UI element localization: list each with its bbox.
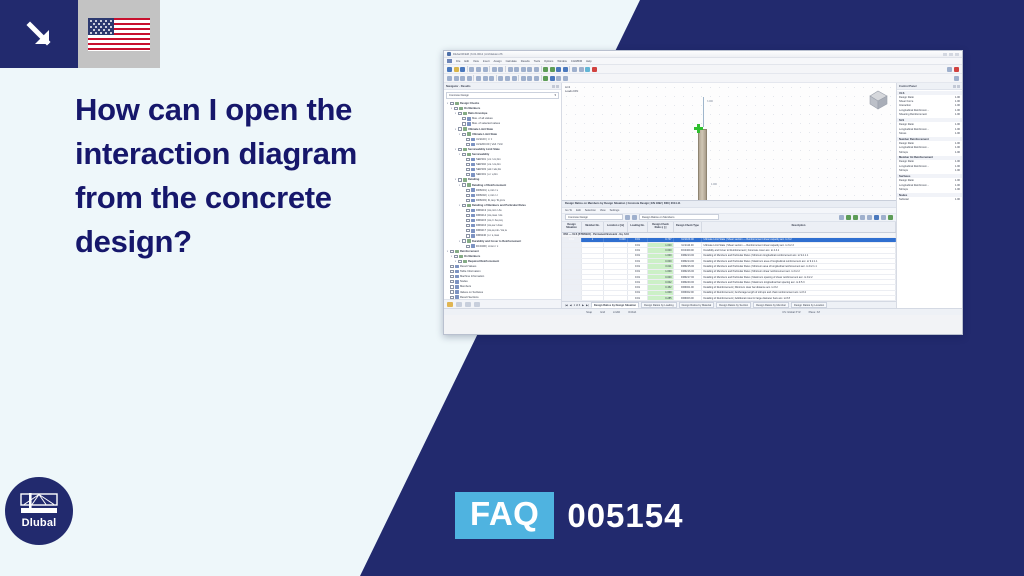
column-member[interactable] — [698, 129, 707, 200]
views-navigator-icon[interactable] — [465, 302, 471, 307]
toolbar-separator — [541, 75, 542, 81]
tree-checkbox[interactable] — [462, 183, 465, 186]
chevron-down-icon[interactable]: ▾ — [446, 102, 449, 105]
status-grid[interactable]: Grid — [600, 311, 605, 314]
tree-checkbox[interactable] — [458, 148, 461, 151]
cell-location[interactable] — [604, 285, 628, 289]
tab-ratios-by-material[interactable]: Design Ratios by Material — [679, 302, 715, 308]
cell-check-type[interactable]: DR6002.00 — [674, 291, 702, 295]
control-panel-row[interactable]: Stirrups1.00 — [897, 187, 962, 191]
tree-checkbox[interactable] — [454, 255, 457, 258]
chevron-down-icon[interactable]: ▾ — [450, 255, 453, 258]
menu-item-cadbim[interactable]: CAD/BIM — [571, 60, 582, 63]
cell-design-situation[interactable] — [562, 270, 582, 274]
cell-description[interactable]: Detailing of Members and Particular Rule… — [702, 264, 896, 268]
print-table-icon[interactable] — [860, 215, 865, 220]
tree-checkbox[interactable] — [466, 224, 469, 227]
cell-location[interactable] — [604, 296, 628, 300]
control-panel-row-value[interactable]: 1.00 — [948, 179, 960, 182]
cell-check-type[interactable]: DM9240.00 — [674, 280, 702, 284]
folder-icon — [467, 132, 471, 135]
results-table-tabs[interactable]: |◀ ◀ 1 of 6 ▶ ▶| Design Ratios by Design… — [562, 301, 896, 308]
column-header-check-type[interactable]: Design Check Type — [674, 222, 702, 232]
section-icon[interactable] — [550, 76, 555, 81]
calculate-icon[interactable] — [543, 67, 548, 72]
column-header-loading-no[interactable]: Loading No. — [628, 222, 648, 232]
chevron-down-icon[interactable]: ▾ — [454, 260, 457, 263]
tree-checkbox[interactable] — [466, 245, 469, 248]
line-support-icon[interactable] — [505, 76, 510, 81]
minimize-button[interactable] — [943, 53, 947, 56]
settings-icon[interactable] — [954, 76, 959, 81]
cell-member-no[interactable] — [582, 248, 604, 252]
select-icon[interactable] — [447, 76, 452, 81]
tree-checkbox[interactable] — [466, 199, 469, 202]
control-panel-row-value[interactable]: 1.00 — [948, 109, 960, 112]
opening-icon[interactable] — [489, 76, 494, 81]
member-hinge-icon[interactable] — [512, 76, 517, 81]
chevron-down-icon[interactable]: ▾ — [454, 148, 457, 151]
tree-checkbox[interactable] — [450, 102, 453, 105]
cell-design-situation[interactable] — [562, 254, 582, 258]
chevron-down-icon[interactable]: ▾ — [454, 128, 457, 131]
check-icon — [471, 229, 475, 232]
control-panel-row-label: Interaction — [899, 104, 948, 107]
chevron-down-icon[interactable]: ▾ — [446, 250, 449, 253]
surface-icon[interactable] — [476, 76, 481, 81]
nodal-support-icon[interactable] — [498, 76, 503, 81]
cell-description[interactable]: Ultimate Limit State | Shear section — R… — [702, 238, 896, 242]
cell-location[interactable] — [604, 254, 628, 258]
cell-design-situation[interactable] — [562, 285, 582, 289]
close-icon[interactable] — [957, 85, 960, 88]
settings-icon[interactable] — [881, 215, 886, 220]
export-excel-icon[interactable] — [846, 215, 851, 220]
material-icon[interactable] — [556, 76, 561, 81]
menu-item-edit[interactable]: Edit — [464, 60, 469, 63]
cell-loading-no[interactable]: CO1 — [628, 248, 648, 252]
cell-description[interactable]: Detailing of Members and Particular Rule… — [702, 270, 896, 274]
stop-icon[interactable] — [592, 67, 597, 72]
results-grid[interactable]: Design Situation Member No. Location x [… — [562, 222, 896, 302]
chart-icon[interactable] — [874, 215, 879, 220]
chevron-down-icon[interactable]: ▾ — [458, 133, 461, 136]
tree-checkbox[interactable] — [466, 189, 469, 192]
control-panel-row-value[interactable]: 1.00 — [948, 96, 960, 99]
chevron-down-icon[interactable]: ▾ — [458, 153, 461, 156]
cell-member-no[interactable] — [582, 243, 604, 247]
table-pager[interactable]: |◀ ◀ 1 of 6 ▶ ▶| — [565, 304, 589, 307]
results-navigator-icon[interactable] — [474, 302, 480, 307]
tree-checkbox[interactable] — [466, 168, 469, 171]
tree-checkbox[interactable] — [466, 158, 469, 161]
cell-ratio[interactable]: 1.000 — [648, 291, 674, 295]
view-mode-icon[interactable] — [508, 67, 513, 72]
cell-location[interactable]: 0.000 — [604, 238, 628, 242]
cell-check-type[interactable]: DM9217.00 — [674, 275, 702, 279]
wireframe-icon[interactable] — [521, 67, 526, 72]
cell-ratio[interactable]: 0.747 — [648, 238, 674, 242]
calculate-all-icon[interactable] — [550, 67, 555, 72]
cell-ratio[interactable]: 0.000 — [648, 275, 674, 279]
cell-check-type[interactable]: DM9215.00 — [674, 264, 702, 268]
cell-design-situation[interactable] — [562, 275, 582, 279]
menu-item-view[interactable]: View — [473, 60, 479, 63]
cell-location[interactable] — [604, 275, 628, 279]
tab-ratios-by-design-situation[interactable]: Design Ratios by Design Situation — [591, 302, 639, 308]
cell-loading-no[interactable]: CO1 — [628, 243, 648, 247]
cell-member-no[interactable] — [582, 254, 604, 258]
rfem-application-window: Dlubal RFEM | 6.01.0012 | Architekten.rf… — [443, 50, 963, 335]
export-csv-icon[interactable] — [853, 215, 858, 220]
control-panel-row-value[interactable]: 1.00 — [948, 113, 960, 116]
node-icon[interactable] — [454, 76, 459, 81]
navigator-footer-tabs[interactable] — [444, 299, 561, 308]
dimension-icon[interactable] — [543, 76, 548, 81]
cell-ratio[interactable]: 0.002 — [648, 280, 674, 284]
tree-checkbox[interactable] — [466, 214, 469, 217]
maximize-button[interactable] — [949, 53, 953, 56]
cell-location[interactable] — [604, 243, 628, 247]
cell-member-no[interactable] — [582, 296, 604, 300]
control-panel-row-value[interactable]: 1.00 — [948, 160, 960, 163]
tab-ratios-by-loading[interactable]: Design Ratios by Loading — [641, 302, 677, 308]
cell-ratio[interactable]: 0.452 — [648, 285, 674, 289]
cell-check-type[interactable]: DM9216.00 — [674, 270, 702, 274]
cell-member-no[interactable] — [582, 285, 604, 289]
tab-ratios-by-section[interactable]: Design Ratios by Section — [716, 302, 751, 308]
printout-report-icon[interactable] — [483, 67, 488, 72]
control-panel-row-value[interactable]: 1.00 — [948, 123, 960, 126]
results-icon[interactable] — [556, 67, 561, 72]
cell-ratio[interactable]: 1.000 — [648, 270, 674, 274]
tree-checkbox[interactable] — [462, 122, 465, 125]
tree-checkbox[interactable] — [466, 173, 469, 176]
chevron-down-icon[interactable]: ▾ — [458, 184, 461, 187]
cell-loading-no[interactable]: CO1 — [628, 238, 648, 242]
cell-design-situation[interactable] — [562, 280, 582, 284]
control-panel-row[interactable]: Stirrups1.00 — [897, 169, 962, 173]
load-case-prev-icon[interactable] — [572, 67, 577, 72]
tab-ratios-by-member[interactable]: Design Ratios by Member — [753, 302, 789, 308]
tree-checkbox[interactable] — [462, 117, 465, 120]
cell-member-no[interactable] — [582, 259, 604, 263]
cell-ratio[interactable]: 0.285 — [648, 296, 674, 300]
new-icon[interactable] — [447, 67, 452, 72]
menu-item-tools[interactable]: Tools — [534, 60, 540, 63]
cell-loading-no[interactable]: CO1 — [628, 259, 648, 263]
tree-checkbox[interactable] — [462, 153, 465, 156]
control-panel-row-value[interactable]: 1.00 — [948, 142, 960, 145]
printer-setup-icon[interactable] — [476, 67, 481, 72]
cell-check-type[interactable]: DC0400.00 — [674, 248, 702, 252]
control-panel-row-value[interactable]: 1.00 — [948, 184, 960, 187]
navigator-tree[interactable]: ▾Design Checks▾On Members▾Ratio Envelope… — [444, 100, 561, 299]
cell-loading-no[interactable]: CO1 — [628, 296, 648, 300]
status-snap[interactable]: Snap — [586, 311, 592, 314]
cell-design-situation[interactable] — [562, 291, 582, 295]
pin-icon[interactable] — [953, 85, 956, 88]
cell-description[interactable]: Detailing of Reinforcement | Additional … — [702, 296, 896, 300]
chevron-down-icon[interactable]: ▾ — [554, 93, 556, 97]
redo-icon[interactable] — [498, 67, 503, 72]
cell-location[interactable] — [604, 280, 628, 284]
control-panel-row-value[interactable]: 1.00 — [948, 165, 960, 168]
cell-check-type[interactable]: DR6001.00 — [674, 285, 702, 289]
nav-first-icon[interactable] — [625, 215, 630, 220]
cell-member-no[interactable] — [582, 270, 604, 274]
cell-design-situation[interactable] — [562, 264, 582, 268]
table-type-select[interactable]: Design Ratios on Members — [639, 214, 719, 220]
menu-item-assign[interactable]: Assign — [494, 60, 502, 63]
table-menu-view[interactable]: View — [600, 209, 606, 212]
solid-icon[interactable] — [483, 76, 488, 81]
display-navigator-icon[interactable] — [456, 302, 462, 307]
cell-loading-no[interactable]: CO1 — [628, 275, 648, 279]
tree-checkbox[interactable] — [466, 209, 469, 212]
tree-checkbox[interactable] — [466, 229, 469, 232]
column-header-location[interactable]: Location x [m] — [604, 222, 628, 232]
cell-loading-no[interactable]: CO1 — [628, 280, 648, 284]
tree-checkbox[interactable] — [450, 275, 453, 278]
zoom-window-icon[interactable] — [534, 67, 539, 72]
column-header-description[interactable]: Description — [702, 222, 896, 232]
toolbar-row-1[interactable] — [444, 65, 962, 74]
results-table-toolbar[interactable]: Concrete Design Design Ratios on Members — [562, 214, 896, 222]
cell-location[interactable] — [604, 264, 628, 268]
results-grid-header: Design Situation Member No. Location x [… — [562, 222, 896, 233]
member-icon[interactable] — [467, 76, 472, 81]
close-button[interactable] — [955, 53, 959, 56]
cell-design-situation[interactable] — [562, 259, 582, 263]
faq-footer: FAQ 005154 — [455, 492, 683, 539]
cell-check-type[interactable]: DR6003.00 — [674, 296, 702, 300]
cell-location[interactable] — [604, 270, 628, 274]
chevron-down-icon[interactable]: ▾ — [454, 112, 457, 115]
menubar[interactable]: File Edit View Insert Assign Calculate R… — [444, 58, 962, 65]
cell-member-no[interactable] — [582, 264, 604, 268]
pager-last-icon[interactable]: ▶| — [586, 304, 589, 307]
tree-checkbox[interactable] — [462, 133, 465, 136]
control-panel-row-value[interactable]: 1.00 — [948, 151, 960, 154]
tree-item-label: Required Reinforcement — [468, 260, 499, 263]
save-icon[interactable] — [460, 67, 465, 72]
chevron-down-icon[interactable]: ▾ — [450, 107, 453, 110]
control-panel-row[interactable]: Stress1.00 — [897, 131, 962, 135]
topbar — [0, 0, 160, 68]
control-panel-row-label: Longitudinal Reinforcem... — [899, 184, 948, 187]
chevron-down-icon[interactable]: ▾ — [458, 204, 461, 207]
cell-location[interactable] — [604, 248, 628, 252]
tab-ratios-by-location[interactable]: Design Ratios by Location — [791, 302, 827, 308]
control-panel-row-value[interactable]: 1.00 — [948, 128, 960, 131]
column-header-ratio[interactable]: Design Check Ratio η [-] — [648, 222, 674, 232]
tree-checkbox[interactable] — [466, 234, 469, 237]
table-menu-edit[interactable]: Edit — [576, 209, 581, 212]
load-case-next-icon[interactable] — [579, 67, 584, 72]
cell-design-situation[interactable]: DS1 — [562, 238, 582, 242]
cell-check-type[interactable]: ULS110.00 — [674, 243, 702, 247]
cell-check-type[interactable]: DM9213.00 — [674, 254, 702, 258]
pager-next-icon[interactable]: ▶ — [582, 304, 584, 307]
cell-ratio[interactable]: 0.000 — [648, 248, 674, 252]
menu-item-help[interactable]: Help — [586, 60, 592, 63]
control-panel-row[interactable]: Subtotal1.00 — [897, 197, 962, 201]
column-header-member-no[interactable]: Member No. — [582, 222, 604, 232]
control-panel-row-value[interactable]: 1.00 — [948, 146, 960, 149]
menu-item-insert[interactable]: Insert — [483, 60, 490, 63]
view-cube-icon[interactable] — [866, 89, 890, 111]
table-menu-selection[interactable]: Selection — [585, 209, 596, 212]
menu-item-calculate[interactable]: Calculate — [506, 60, 517, 63]
control-panel-row-value[interactable]: 1.00 — [948, 198, 960, 201]
tree-checkbox[interactable] — [466, 219, 469, 222]
cell-description[interactable]: Detailing of Reinforcement | Minimum cle… — [702, 285, 896, 289]
data-navigator-icon[interactable] — [447, 302, 453, 307]
cell-design-situation[interactable] — [562, 248, 582, 252]
cell-description[interactable]: Detailing of Members and Particular Rule… — [702, 259, 896, 263]
notification-icon[interactable] — [954, 67, 959, 72]
nodal-support-icon[interactable] — [694, 124, 703, 133]
tree-checkbox[interactable] — [450, 290, 453, 293]
color-scale-icon[interactable] — [585, 67, 590, 72]
status-ortho[interactable]: Orthoß — [628, 311, 636, 314]
menu-item-options[interactable]: Options — [544, 60, 553, 63]
cell-loading-no[interactable]: CO1 — [628, 264, 648, 268]
menu-item-file[interactable]: File — [456, 60, 460, 63]
tree-checkbox[interactable] — [450, 250, 453, 253]
cell-description[interactable]: Detailing of Reinforcement | Anchorage l… — [702, 291, 896, 295]
us-flag-icon — [78, 0, 160, 68]
nav-prev-icon[interactable] — [632, 215, 637, 220]
cell-description[interactable]: Detailing of Members and Particular Rule… — [702, 254, 896, 258]
cell-loading-no[interactable]: CO1 — [628, 270, 648, 274]
tree-checkbox[interactable] — [458, 178, 461, 181]
cell-ratio[interactable]: 1.000 — [648, 254, 674, 258]
help-icon[interactable] — [888, 215, 893, 220]
grid-snap-icon[interactable] — [563, 76, 568, 81]
cell-description[interactable]: Detailing of Members and Particular Rule… — [702, 275, 896, 279]
tree-checkbox[interactable] — [458, 112, 461, 115]
tree-checkbox[interactable] — [454, 107, 457, 110]
cell-description[interactable]: Ultimate Limit State | Shear section — R… — [702, 243, 896, 247]
cell-loading-no[interactable]: CO1 — [628, 291, 648, 295]
pager-prev-icon[interactable]: ◀ — [570, 304, 572, 307]
menu-item-results[interactable]: Results — [521, 60, 530, 63]
control-panel-group: Member Int ReinforcementDesign Ratio1.00… — [897, 156, 962, 173]
navigator-module-select[interactable]: Concrete Design ▾ — [446, 92, 559, 99]
tree-checkbox[interactable] — [458, 260, 461, 263]
model-viewport[interactable]: LC2 Loads DIN 3.000 4.000 — [562, 83, 896, 200]
cell-ratio[interactable]: 0.000 — [648, 259, 674, 263]
surface-load-icon[interactable] — [534, 76, 539, 81]
status-load[interactable]: LOAD — [613, 311, 620, 314]
cell-member-no[interactable] — [582, 280, 604, 284]
nodal-load-icon[interactable] — [521, 76, 526, 81]
tree-item-label: On Members — [464, 255, 480, 258]
pin-icon[interactable] — [552, 85, 555, 88]
pager-first-icon[interactable]: |◀ — [565, 304, 568, 307]
columns-icon[interactable] — [867, 215, 872, 220]
print-icon[interactable] — [469, 67, 474, 72]
control-panel-row-value[interactable]: 1.00 — [948, 169, 960, 172]
cell-loading-no[interactable]: CO1 — [628, 285, 648, 289]
cell-description[interactable]: Detailing of Members and Particular Rule… — [702, 280, 896, 284]
chevron-down-icon[interactable]: ▾ — [454, 178, 457, 181]
cell-location[interactable] — [604, 291, 628, 295]
column-header-design-situation[interactable]: Design Situation — [562, 222, 582, 232]
results-grid-body[interactable]: DS1 — ULS (STR/GEO) - Permanent/transien… — [562, 233, 896, 302]
close-icon[interactable] — [556, 85, 559, 88]
render-icon[interactable] — [514, 67, 519, 72]
tree-checkbox[interactable] — [458, 127, 461, 130]
window-controls[interactable] — [943, 53, 959, 56]
control-panel-row-value[interactable]: 1.00 — [948, 100, 960, 103]
undo-icon[interactable] — [492, 67, 497, 72]
cell-description[interactable]: Durability and Cover to Reinforcement | … — [702, 248, 896, 252]
toolbar-separator — [489, 66, 490, 72]
control-panel-row[interactable]: Stirrups1.00 — [897, 150, 962, 154]
cell-check-type[interactable]: DM9214.00 — [674, 259, 702, 263]
control-panel-controls[interactable] — [953, 85, 961, 88]
table-module-select[interactable]: Concrete Design — [565, 214, 623, 220]
zoom-all-icon[interactable] — [527, 67, 532, 72]
table-menu-goto[interactable]: Go To — [565, 209, 572, 212]
cell-member-no[interactable]: 1 — [582, 238, 604, 242]
cell-location[interactable] — [604, 259, 628, 263]
menu-item-window[interactable]: Window — [557, 60, 567, 63]
folder-icon — [455, 102, 459, 105]
control-panel-row-value[interactable]: 1.00 — [948, 188, 960, 191]
tree-checkbox[interactable] — [450, 285, 453, 288]
cell-design-situation[interactable] — [562, 296, 582, 300]
control-panel-row-value[interactable]: 1.00 — [948, 104, 960, 107]
open-icon[interactable] — [454, 67, 459, 72]
navigator-panel-controls[interactable] — [552, 85, 560, 88]
control-panel-row-label: Longitudinal Reinforcem... — [899, 128, 948, 131]
cell-check-type[interactable]: ULS100.00 — [674, 238, 702, 242]
control-panel-row[interactable]: Shearing Reinforcement1.00 — [897, 113, 962, 117]
cell-loading-no[interactable]: CO1 — [628, 254, 648, 258]
tree-checkbox[interactable] — [450, 270, 453, 273]
app-menu-icon[interactable] — [447, 59, 452, 63]
cell-design-situation[interactable] — [562, 243, 582, 247]
tree-checkbox[interactable] — [450, 265, 453, 268]
cell-member-no[interactable] — [582, 291, 604, 295]
cell-member-no[interactable] — [582, 275, 604, 279]
control-panel-row-value[interactable]: 1.00 — [948, 132, 960, 135]
chevron-down-icon[interactable]: ▾ — [458, 240, 461, 243]
toolbar-separator — [505, 66, 506, 72]
toolbar-row-2[interactable] — [444, 74, 962, 83]
tree-checkbox[interactable] — [466, 163, 469, 166]
deformation-icon[interactable] — [563, 67, 568, 72]
member-load-icon[interactable] — [527, 76, 532, 81]
control-panel-body[interactable]: ULSDesign Ratio1.00Shear Force1.00Intera… — [897, 90, 962, 308]
tree-checkbox[interactable] — [450, 280, 453, 283]
filter-icon[interactable] — [839, 215, 844, 220]
cell-ratio[interactable]: 1.000 — [648, 243, 674, 247]
tree-checkbox[interactable] — [462, 204, 465, 207]
line-icon[interactable] — [460, 76, 465, 81]
table-menu-settings[interactable]: Settings — [610, 209, 620, 212]
tree-checkbox[interactable] — [462, 239, 465, 242]
cell-ratio[interactable]: 0.011 — [648, 264, 674, 268]
tree-checkbox[interactable] — [466, 194, 469, 197]
tree-checkbox[interactable] — [466, 143, 469, 146]
tree-checkbox[interactable] — [466, 138, 469, 141]
help-icon[interactable] — [947, 67, 952, 72]
